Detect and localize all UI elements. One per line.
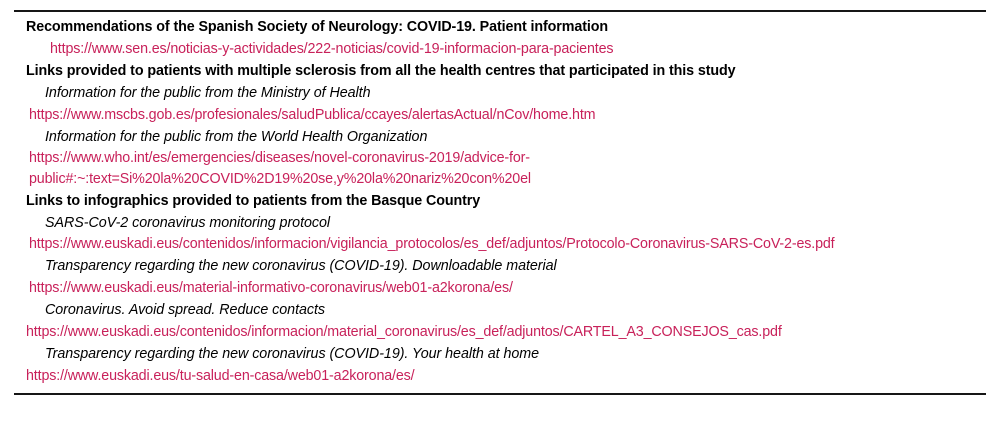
section-heading-basque-country: Links to infographics provided to patien…	[14, 190, 986, 212]
section-heading-ms-centres: Links provided to patients with multiple…	[14, 60, 986, 82]
subheading-world-health-organization: Information for the public from the Worl…	[14, 126, 986, 148]
subheading-your-health-at-home: Transparency regarding the new coronavir…	[14, 343, 986, 365]
subheading-avoid-spread: Coronavirus. Avoid spread. Reduce contac…	[14, 299, 986, 321]
links-table: Recommendations of the Spanish Society o…	[14, 10, 986, 395]
link-mscbs-home[interactable]: https://www.mscbs.gob.es/profesionales/s…	[14, 104, 986, 126]
link-euskadi-cartel-consejos-pdf[interactable]: https://www.euskadi.eus/contenidos/infor…	[14, 321, 986, 343]
link-sen-patient-information[interactable]: https://www.sen.es/noticias-y-actividade…	[14, 38, 986, 60]
section-heading-sen: Recommendations of the Spanish Society o…	[14, 16, 986, 38]
link-euskadi-material-informativo[interactable]: https://www.euskadi.eus/material-informa…	[14, 277, 986, 299]
link-who-advice-for-public[interactable]: https://www.who.int/es/emergencies/disea…	[14, 148, 934, 190]
link-euskadi-tu-salud-en-casa[interactable]: https://www.euskadi.eus/tu-salud-en-casa…	[14, 365, 986, 387]
link-euskadi-protocolo-pdf[interactable]: https://www.euskadi.eus/contenidos/infor…	[14, 234, 934, 255]
subheading-ministry-of-health: Information for the public from the Mini…	[14, 82, 986, 104]
subheading-monitoring-protocol: SARS-CoV-2 coronavirus monitoring protoc…	[14, 212, 986, 234]
subheading-downloadable-material: Transparency regarding the new coronavir…	[14, 255, 986, 277]
